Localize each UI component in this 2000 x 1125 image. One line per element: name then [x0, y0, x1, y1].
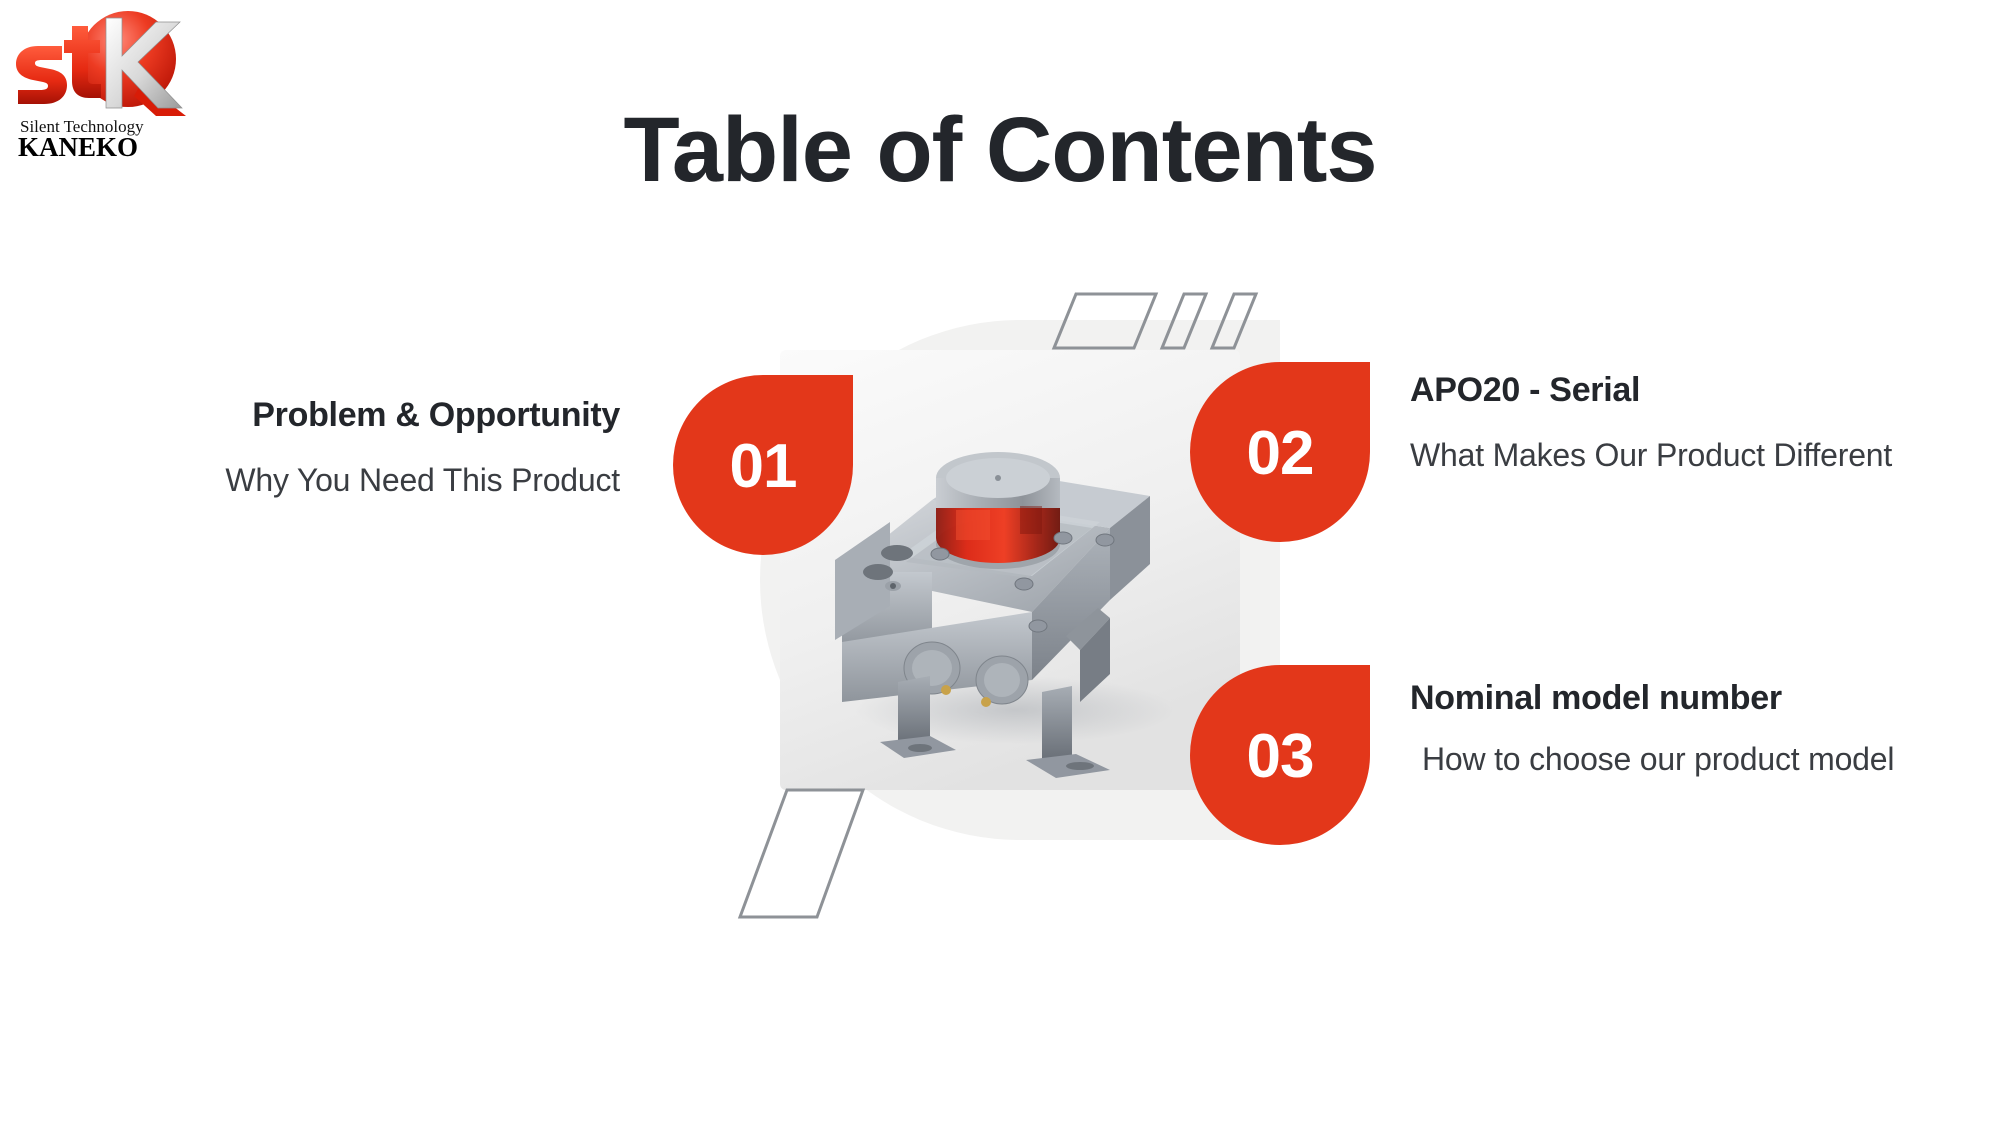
page-title: Table of Contents	[0, 104, 2000, 196]
toc-item-03[interactable]: Nominal model number How to choose our p…	[1410, 678, 1950, 780]
parallelogram-decor-bottom	[735, 785, 895, 925]
toc-badge-01[interactable]: 01	[673, 375, 853, 555]
toc-badge-number: 02	[1247, 423, 1314, 485]
toc-item-subtitle: What Makes Our Product Different	[1410, 436, 1930, 476]
slide-root: Silent Technology KANEKO Table of Conten…	[0, 0, 2000, 1125]
toc-item-heading: Problem & Opportunity	[60, 395, 620, 435]
toc-item-01[interactable]: Problem & Opportunity Why You Need This …	[60, 395, 620, 501]
toc-badge-number: 03	[1247, 726, 1314, 788]
toc-badge-03[interactable]: 03	[1190, 665, 1370, 845]
parallelogram-decor-top	[1030, 286, 1270, 352]
toc-item-heading: Nominal model number	[1410, 678, 1950, 718]
toc-item-subtitle: Why You Need This Product	[60, 461, 620, 501]
toc-badge-02[interactable]: 02	[1190, 362, 1370, 542]
toc-item-02[interactable]: APO20 - Serial What Makes Our Product Di…	[1410, 370, 1930, 476]
toc-item-heading: APO20 - Serial	[1410, 370, 1930, 410]
toc-badge-number: 01	[730, 436, 797, 498]
toc-item-subtitle: How to choose our product model	[1422, 740, 1950, 780]
